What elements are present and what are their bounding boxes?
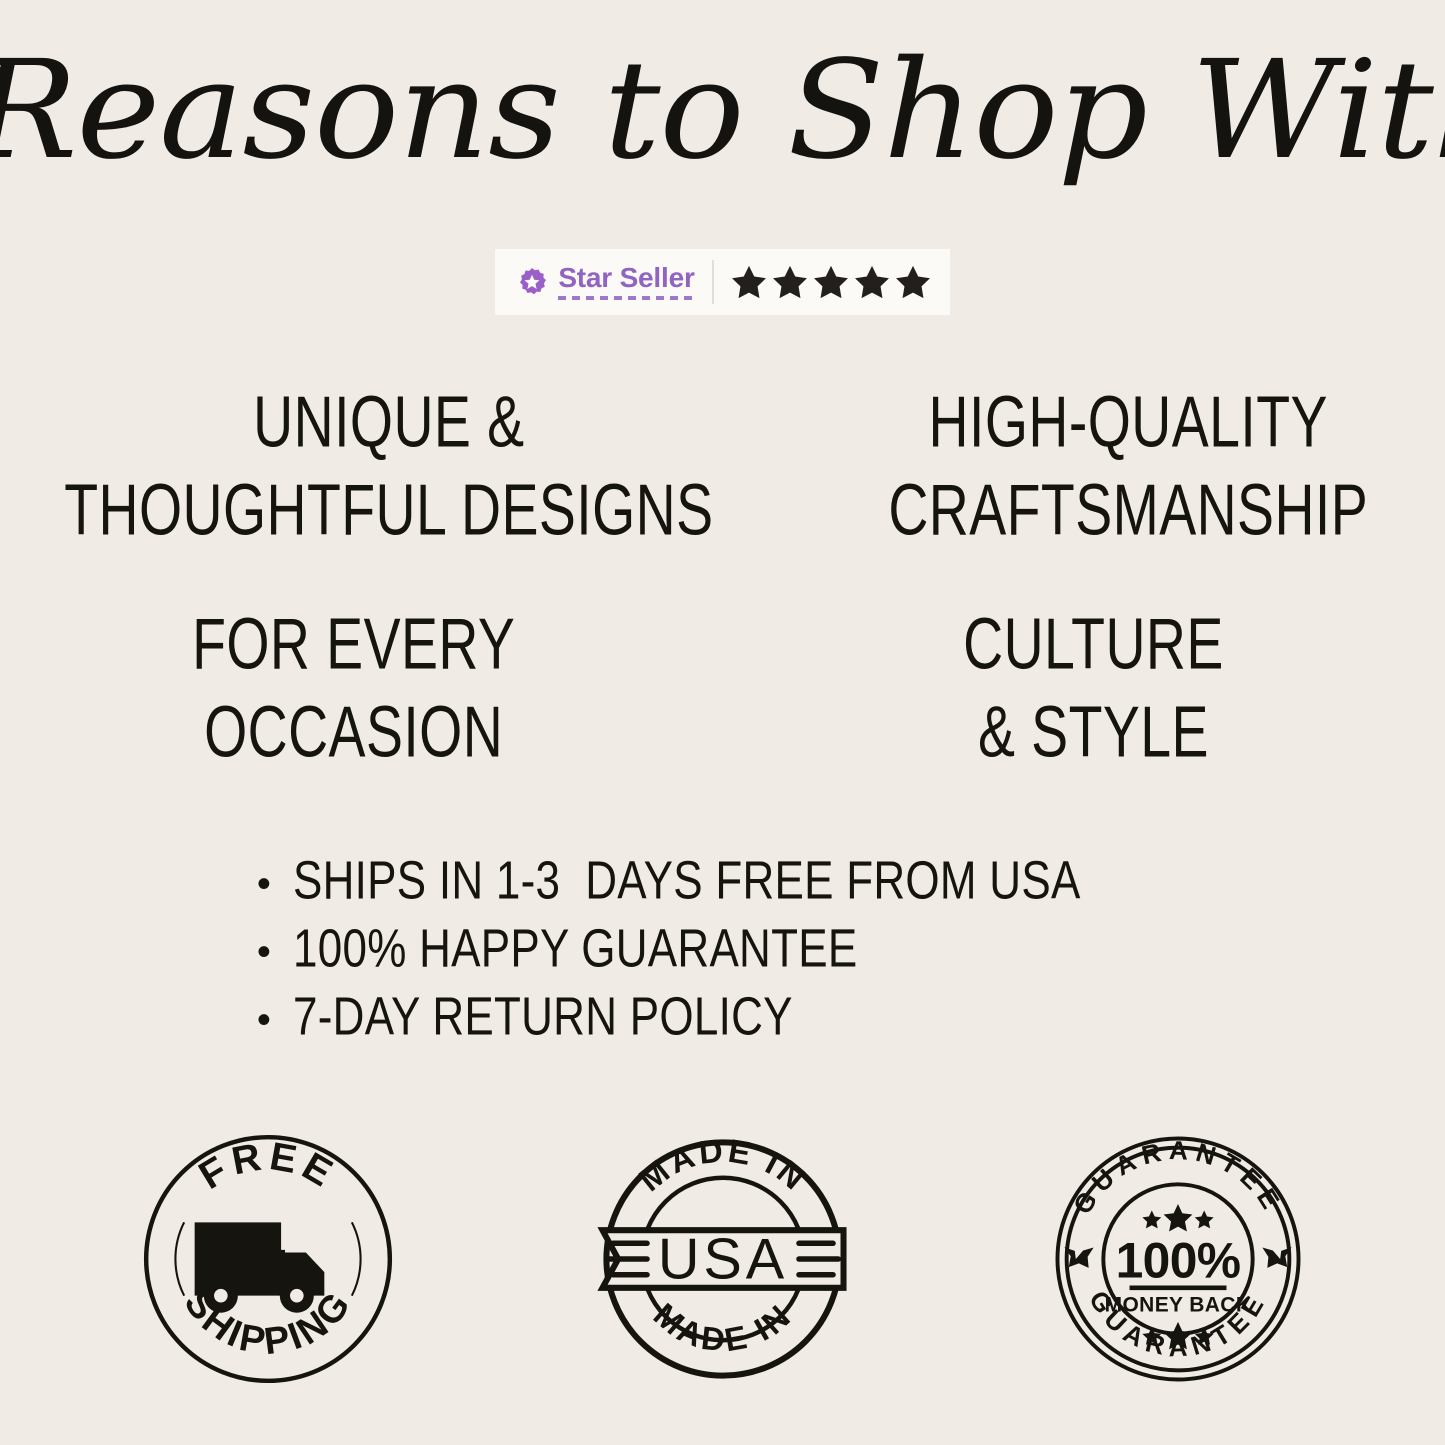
star-icon xyxy=(730,263,768,301)
stamp-ribbon-icon: USA xyxy=(602,1228,843,1292)
feature-line: & STYLE xyxy=(798,687,1388,775)
feature-high-quality: HIGH-QUALITY CRAFTSMANSHIP xyxy=(854,377,1393,553)
star-icon xyxy=(853,263,891,301)
list-item: • 100% HAPPY GUARANTEE xyxy=(257,916,1188,984)
feature-line: FOR EVERY xyxy=(59,599,649,687)
list-item: • SHIPS IN 1-3 DAYS FREE FROM USA xyxy=(257,848,1188,916)
star-seller-badge-wrap: Star Seller xyxy=(0,249,1445,315)
bullet-dot-icon: • xyxy=(257,988,271,1052)
list-item: • 7-DAY RETURN POLICY xyxy=(257,984,1188,1052)
bullet-dot-icon: • xyxy=(257,852,271,916)
money-back-guarantee-badge: GUARANTEE GUARANTEE 100% MONEY BACK xyxy=(1047,1128,1309,1390)
star-row-top-icon xyxy=(1142,1204,1213,1232)
feature-row: FOR EVERY OCCASION CULTURE & STYLE xyxy=(0,607,1445,767)
star-icon xyxy=(812,263,850,301)
star-seller-badge: Star Seller xyxy=(495,249,949,315)
promo-graphic: Reasons to Shop With Us Star Seller xyxy=(0,0,1445,1445)
guarantee-percent: 100% xyxy=(1115,1232,1240,1288)
made-in-usa-badge: MADE IN MADE IN USA xyxy=(592,1128,854,1390)
feature-line: CULTURE xyxy=(798,599,1388,687)
badge-inner-arc-left xyxy=(175,1222,184,1295)
ribbon-text: USA xyxy=(657,1228,787,1292)
badge-top-text: MADE IN xyxy=(631,1131,814,1198)
feature-line: UNIQUE & xyxy=(64,377,713,465)
delivery-truck-icon xyxy=(194,1222,324,1312)
badge-top-text: FREE xyxy=(191,1134,344,1198)
policy-bullets: • SHIPS IN 1-3 DAYS FREE FROM USA • 100%… xyxy=(0,848,1445,1052)
star-icon xyxy=(894,263,932,301)
feature-line: THOUGHTFUL DESIGNS xyxy=(64,465,713,553)
star-seller-text-col: Star Seller xyxy=(558,264,694,300)
bullet-label: SHIPS IN 1-3 DAYS FREE FROM USA xyxy=(293,845,1081,914)
star-icon xyxy=(771,263,809,301)
feature-line: OCCASION xyxy=(59,687,649,775)
feature-line: HIGH-QUALITY xyxy=(863,377,1394,465)
bullet-label: 7-DAY RETURN POLICY xyxy=(293,981,793,1050)
star-seller-label: Star Seller xyxy=(558,264,694,292)
star-rosette-icon xyxy=(517,267,547,297)
trust-badge-row: FREE SHIPPING MADE IN xyxy=(0,1128,1445,1390)
feature-row: UNIQUE & THOUGHTFUL DESIGNS HIGH-QUALITY… xyxy=(0,385,1445,545)
bullet-dot-icon: • xyxy=(257,920,271,984)
feature-unique-designs: UNIQUE & THOUGHTFUL DESIGNS xyxy=(64,377,738,553)
bullet-label: 100% HAPPY GUARANTEE xyxy=(293,913,857,982)
page-title: Reasons to Shop With Us xyxy=(0,40,1445,183)
feature-culture-style: CULTURE & STYLE xyxy=(790,599,1389,775)
star-seller-label-group: Star Seller xyxy=(495,249,711,315)
dashed-underline xyxy=(558,296,694,300)
free-shipping-badge: FREE SHIPPING xyxy=(137,1128,399,1390)
rating-stars xyxy=(714,249,950,315)
badge-bottom-text: MADE IN xyxy=(646,1296,798,1359)
feature-grid: UNIQUE & THOUGHTFUL DESIGNS HIGH-QUALITY… xyxy=(0,385,1445,767)
feature-every-occasion: FOR EVERY OCCASION xyxy=(59,599,674,775)
feature-line: CRAFTSMANSHIP xyxy=(863,465,1394,553)
badge-inner-arc-right xyxy=(351,1222,360,1295)
bullet-list: • SHIPS IN 1-3 DAYS FREE FROM USA • 100%… xyxy=(257,848,1188,1052)
guarantee-subtext: MONEY BACK xyxy=(1104,1293,1251,1316)
